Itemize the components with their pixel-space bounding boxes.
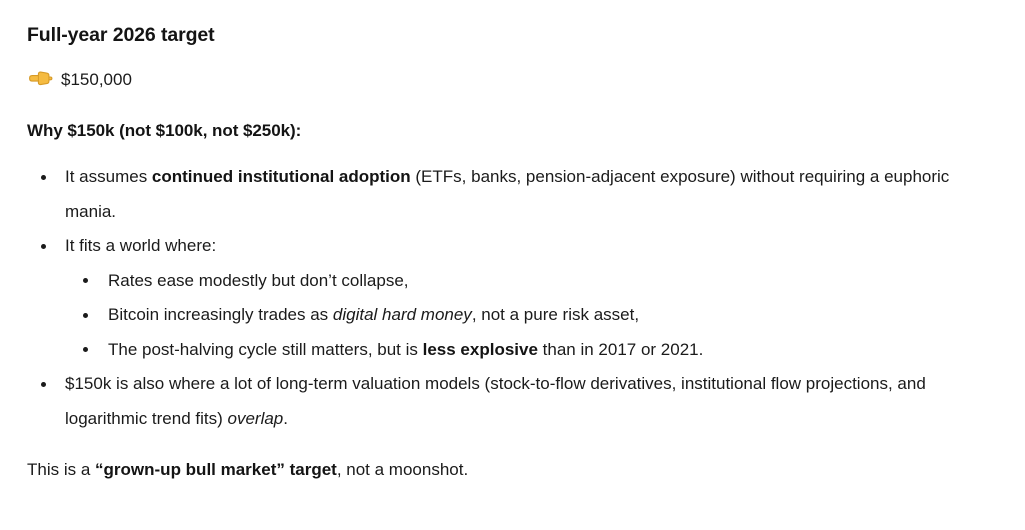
emphasis-continued-institutional-adoption: continued institutional adoption (152, 167, 411, 186)
section-subheading: Why $150k (not $100k, not $250k): (27, 119, 995, 143)
bullet-marker-icon (41, 229, 47, 264)
emphasis-overlap: overlap (228, 409, 284, 428)
list-item-text: Bitcoin increasingly trades as digital h… (108, 298, 995, 333)
emphasis-grown-up-bull-market-target: “grown-up bull market” target (95, 460, 337, 479)
list-item-text: Rates ease modestly but don’t collapse, (108, 264, 995, 299)
bullet-marker-icon (41, 367, 47, 402)
list-item-text: It fits a world where: (65, 229, 995, 264)
target-value: $150,000 (61, 68, 132, 92)
emphasis-digital-hard-money: digital hard money (333, 305, 472, 324)
sub-reasons-list: Rates ease modestly but don’t collapse, … (65, 264, 995, 368)
reasons-list: It assumes continued institutional adopt… (27, 160, 995, 436)
list-item-text: It assumes continued institutional adopt… (65, 160, 995, 229)
bullet-marker-icon (83, 298, 89, 333)
list-item: It fits a world where: Rates ease modest… (27, 229, 995, 367)
list-item: Bitcoin increasingly trades as digital h… (65, 298, 995, 333)
page-title: Full-year 2026 target (27, 22, 995, 48)
target-callout: $150,000 (27, 68, 995, 92)
list-item-text: $150k is also where a lot of long-term v… (65, 367, 995, 436)
bullet-marker-icon (41, 160, 47, 195)
document-body: Full-year 2026 target $150,000 Why $150k… (0, 0, 1025, 482)
emphasis-less-explosive: less explosive (423, 340, 538, 359)
list-item: Rates ease modestly but don’t collapse, (65, 264, 995, 299)
list-item: It assumes continued institutional adopt… (27, 160, 995, 229)
list-item: $150k is also where a lot of long-term v… (27, 367, 995, 436)
bullet-marker-icon (83, 264, 89, 299)
closing-statement: This is a “grown-up bull market” target,… (27, 458, 995, 482)
backhand-index-pointing-right-icon (27, 69, 53, 91)
list-item: The post-halving cycle still matters, bu… (65, 333, 995, 368)
list-item-text: The post-halving cycle still matters, bu… (108, 333, 995, 368)
bullet-marker-icon (83, 333, 89, 368)
